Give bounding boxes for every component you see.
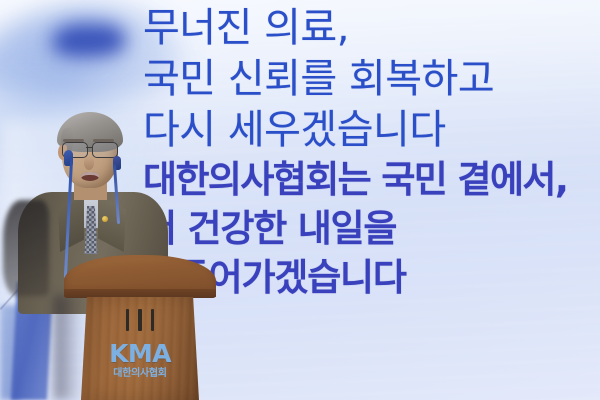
banner-line-3: 다시 세우겠습니다 <box>143 110 600 150</box>
vent-slot <box>151 309 154 331</box>
podium-desktop-edge <box>64 289 216 298</box>
kma-logo-korean-name: 대한의사협회 <box>81 369 199 379</box>
speaker-nose <box>84 156 94 170</box>
speaker-lapel-pin <box>102 216 108 222</box>
vent-slot <box>126 309 129 331</box>
banner-line-2: 국민 신뢰를 회복하고 <box>143 59 600 99</box>
podium-lectern: KMA 대한의사협회 <box>64 255 216 400</box>
kma-logo: KMA 대한의사협회 <box>81 341 199 379</box>
kma-logo-acronym: KMA <box>81 341 199 366</box>
speaker-mouth <box>81 172 99 181</box>
vent-slot <box>138 309 141 331</box>
podium-front-panel: KMA 대한의사협회 <box>81 297 199 400</box>
banner-line-4: 대한의사협회는 국민 곁에서, <box>143 161 600 198</box>
banner-line-5: 더 건강한 내일을 <box>143 210 600 247</box>
foreground-dark-shape <box>3 200 49 296</box>
podium-side-shadow <box>54 295 82 400</box>
podium-vent-slots <box>126 309 154 331</box>
background-dark-blue-blob <box>52 24 126 57</box>
banner-line-1: 무너진 의료, <box>143 8 600 48</box>
photo-stage: 무너진 의료, 국민 신뢰를 회복하고 다시 세우겠습니다 대한의사협회는 국민… <box>0 0 600 400</box>
eyeglass-bridge <box>86 147 93 148</box>
